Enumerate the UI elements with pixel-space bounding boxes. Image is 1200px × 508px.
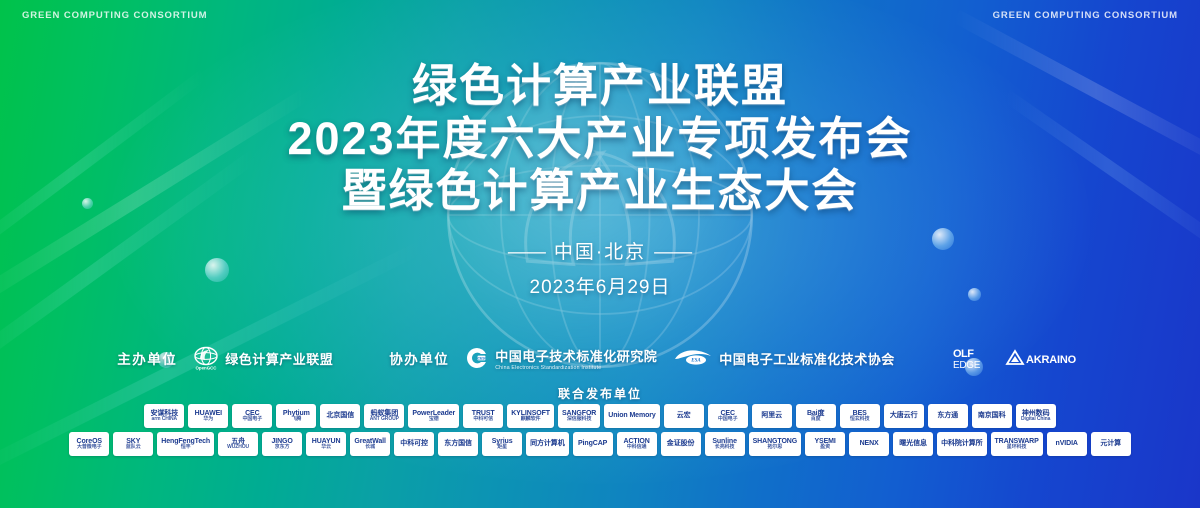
sponsor-logo-label: 神州数码Digital China — [1021, 410, 1050, 423]
sponsor-logo[interactable]: PowerLeader宝德 — [408, 404, 459, 428]
title-line-2: 2023年度六大产业专项发布会 — [0, 115, 1200, 163]
sponsor-logo[interactable]: BES恒玄科技 — [840, 404, 880, 428]
sponsor-logo-row-2: CoreOS大普微电子SKY蓝队云HengFengTech恒丰五舟WUZHOUJ… — [0, 432, 1200, 456]
host-organization: OpenGCC 绿色计算产业联盟 — [193, 345, 333, 371]
akraino-icon: AKRAINO — [1005, 348, 1083, 368]
title-line-1: 绿色计算产业联盟 — [0, 62, 1200, 110]
sponsor-logo[interactable]: 五舟WUZHOU — [218, 432, 258, 456]
cesi-c-icon: CESI — [465, 346, 489, 370]
sponsor-logo-label: 北京国信 — [327, 412, 355, 419]
sponsor-logo[interactable]: 阿里云 — [752, 404, 792, 428]
sponsor-logo-label: 金证股份 — [667, 440, 695, 447]
svg-text:ESA: ESA — [691, 359, 702, 364]
co-organization-name-cesa: 中国电子工业标准化技术协会 — [719, 349, 895, 368]
sponsor-logo-primary: 北京国信 — [327, 412, 355, 419]
sponsor-logo[interactable]: 金证股份 — [661, 432, 701, 456]
sponsor-logo[interactable]: Syrius炬星 — [482, 432, 522, 456]
sponsor-logo-secondary: 星环科技 — [1007, 445, 1027, 450]
corner-label-left: GREEN COMPUTING CONSORTIUM — [22, 10, 207, 21]
sponsor-logo[interactable]: 安谋科技arm CHINA — [144, 404, 184, 428]
svg-text:CESI: CESI — [478, 357, 486, 361]
sponsor-logo-label: SKY蓝队云 — [126, 438, 141, 451]
sponsor-logo-primary: 南京国科 — [978, 412, 1006, 419]
sponsor-logo-label: CEC中国电子 — [243, 410, 263, 423]
sponsor-logo-label: 大唐云行 — [890, 412, 918, 419]
sponsor-logo-primary: 元计算 — [1100, 440, 1121, 447]
sponsor-logo-label: 蚂蚁集团ANT GROUP — [370, 410, 399, 423]
co-organization-cesi: CESI 中国电子技术标准化研究院 China Electronics Stan… — [465, 346, 657, 371]
sponsor-logo[interactable]: NENX — [849, 432, 889, 456]
sponsor-logo-primary: NENX — [860, 440, 879, 447]
sponsor-logo-secondary: 大普微电子 — [77, 445, 102, 450]
sponsor-logo[interactable]: SANGFOR深信服科技 — [558, 404, 600, 428]
sponsor-logo-secondary: 中国电子 — [718, 417, 738, 422]
sponsor-logo-label: 南京国科 — [978, 412, 1006, 419]
sponsor-logo[interactable]: HUAWEI华为 — [188, 404, 228, 428]
sponsor-logo-secondary: WUZHOU — [227, 445, 249, 450]
opengcc-globe-icon: OpenGCC — [193, 345, 219, 371]
sponsor-logo-label: nVIDIA — [1056, 440, 1078, 447]
sponsor-logo-label: PingCAP — [578, 440, 607, 447]
sponsor-logo-label: JINGO京东方 — [271, 438, 292, 451]
sponsor-logo-secondary: 飞腾 — [291, 417, 301, 422]
sponsor-logo-label: Union Memory — [608, 412, 655, 419]
sponsor-logo-primary: 阿里云 — [761, 412, 782, 419]
sponsor-logo[interactable]: YSEMI盈资 — [805, 432, 845, 456]
sponsor-logo-label: 元计算 — [1100, 440, 1121, 447]
sponsor-logo-secondary: 麒麟软件 — [521, 417, 541, 422]
sponsor-logo-primary: Union Memory — [608, 412, 655, 419]
sponsor-logo[interactable]: Union Memory — [604, 404, 659, 428]
sponsor-logo-secondary: 华为 — [203, 417, 213, 422]
sponsor-logo-secondary: 百度 — [811, 417, 821, 422]
svg-text:AKRAINO: AKRAINO — [1026, 354, 1077, 366]
sponsor-logo-secondary: 中科信通 — [627, 445, 647, 450]
sponsor-logo[interactable]: 神州数码Digital China — [1016, 404, 1056, 428]
sponsor-logo-label: 五舟WUZHOU — [227, 438, 249, 451]
sponsor-logo-secondary: 中科可信 — [473, 417, 493, 422]
corner-label-right: GREEN COMPUTING CONSORTIUM — [993, 10, 1178, 21]
sponsor-logo[interactable]: 中科可控 — [394, 432, 434, 456]
sponsor-logo-label: HengFengTech恒丰 — [161, 438, 210, 451]
sponsor-logo[interactable]: SHANGTONG拓尔思 — [749, 432, 801, 456]
sponsor-logo-secondary: 深信服科技 — [567, 417, 592, 422]
title-line-3: 暨绿色计算产业生态大会 — [0, 167, 1200, 215]
sponsor-logo-label: 中科院计算所 — [941, 440, 982, 447]
sponsor-logo-secondary: 蓝队云 — [126, 445, 141, 450]
sponsor-logo[interactable]: 曙光信息 — [893, 432, 933, 456]
sponsor-logo-primary: 同方计算机 — [530, 440, 565, 447]
sponsor-logo-label: YSEMI盈资 — [814, 438, 835, 451]
sponsor-logo[interactable]: 同方计算机 — [526, 432, 569, 456]
sponsor-logo-secondary: 长城 — [365, 445, 375, 450]
sponsor-logo-secondary: 华云 — [321, 445, 331, 450]
sponsor-logo-primary: 东方国信 — [444, 440, 472, 447]
conference-banner: GREEN COMPUTING CONSORTIUM GREEN COMPUTI… — [0, 0, 1200, 508]
host-label: 主办单位 — [117, 348, 177, 368]
sponsor-logo[interactable]: TRUST中科可信 — [463, 404, 503, 428]
sponsor-logo-label: CEC中国电子 — [718, 410, 738, 423]
dash-right: —— — [654, 242, 692, 263]
co-organizer-label: 协办单位 — [389, 348, 449, 368]
sponsor-logo-label: 东方通 — [937, 412, 958, 419]
sponsor-logo[interactable]: HUAYUN华云 — [306, 432, 346, 456]
sponsor-logo-secondary: 恒玄科技 — [850, 417, 870, 422]
sponsor-logo-label: SANGFOR深信服科技 — [562, 410, 596, 423]
sponsor-logo[interactable]: SKY蓝队云 — [113, 432, 153, 456]
sponsor-logo-primary: 金证股份 — [667, 440, 695, 447]
sponsor-logo[interactable]: 东方通 — [928, 404, 968, 428]
sponsor-logo-label: SHANGTONG拓尔思 — [753, 438, 797, 451]
sponsor-logo[interactable]: Bai度百度 — [796, 404, 836, 428]
sponsor-logo-primary: 东方通 — [937, 412, 958, 419]
sponsor-logo-label: PowerLeader宝德 — [412, 410, 455, 423]
sponsor-logo-secondary: arm CHINA — [152, 417, 178, 422]
sponsor-logo-label: HUAYUN华云 — [312, 438, 341, 451]
sponsor-logo[interactable]: 东方国信 — [438, 432, 478, 456]
partner-akraino: AKRAINO — [1005, 348, 1083, 368]
sponsor-logo-primary: 大唐云行 — [890, 412, 918, 419]
sponsor-logo-label: Bai度百度 — [807, 410, 825, 423]
sponsor-logo[interactable]: 蚂蚁集团ANT GROUP — [364, 404, 404, 428]
sponsor-logo-label: Phytium飞腾 — [283, 410, 310, 423]
sponsor-logo-label: 中科可控 — [400, 440, 428, 447]
sponsor-logo-secondary: 盈资 — [820, 445, 830, 450]
sponsor-logo[interactable]: CoreOS大普微电子 — [69, 432, 109, 456]
cesi-name-en: China Electronics Standardization Instit… — [495, 365, 657, 371]
sponsor-logo[interactable]: TRANSWARP星环科技 — [991, 432, 1043, 456]
sponsor-logo-row-1: 安谋科技arm CHINAHUAWEI华为CEC中国电子Phytium飞腾北京国… — [0, 404, 1200, 428]
svg-text:EDGE: EDGE — [953, 360, 981, 371]
sponsor-logo[interactable]: CEC中国电子 — [232, 404, 272, 428]
sponsor-logo-rows: 安谋科技arm CHINAHUAWEI华为CEC中国电子Phytium飞腾北京国… — [0, 404, 1200, 460]
cesi-name-cn: 中国电子技术标准化研究院 — [495, 349, 657, 364]
sponsor-logo-label: 东方国信 — [444, 440, 472, 447]
sponsor-logo-label: Syrius炬星 — [492, 438, 513, 451]
sponsor-logo-secondary: 恒丰 — [181, 445, 191, 450]
sponsor-logo-label: 安谋科技arm CHINA — [151, 410, 179, 423]
sponsor-logo[interactable]: ACTION中科信通 — [617, 432, 657, 456]
location-text: 中国·北京 — [554, 242, 646, 263]
sponsor-logo[interactable]: CEC中国电子 — [708, 404, 748, 428]
sponsor-logo-secondary: 拓尔思 — [768, 445, 783, 450]
sponsor-logo-label: 阿里云 — [761, 412, 782, 419]
sponsor-logo[interactable]: 大唐云行 — [884, 404, 924, 428]
sponsor-logo-secondary: 炬星 — [497, 445, 507, 450]
sponsor-logo-secondary: 京东方 — [275, 445, 290, 450]
sponsor-logo[interactable]: 北京国信 — [320, 404, 360, 428]
sponsor-logo[interactable]: Sunline长亮科技 — [705, 432, 745, 456]
sponsor-logo-label: TRANSWARP星环科技 — [995, 438, 1039, 451]
sponsor-logo-label: HUAWEI华为 — [195, 410, 222, 423]
sponsor-logo-primary: 中科可控 — [400, 440, 428, 447]
sponsor-logo-primary: 曙光信息 — [899, 440, 927, 447]
sponsor-logo-primary: nVIDIA — [1056, 440, 1078, 447]
sponsor-logo-secondary: 中国电子 — [243, 417, 263, 422]
sponsor-logo-secondary: Digital China — [1021, 417, 1050, 422]
sponsor-logo-secondary: ANT GROUP — [370, 417, 399, 422]
lfedge-icon: OLF EDGE — [951, 345, 989, 371]
sponsor-logo[interactable]: nVIDIA — [1047, 432, 1087, 456]
sponsor-logo[interactable]: 元计算 — [1091, 432, 1131, 456]
location-line: ——中国·北京—— — [0, 237, 1200, 264]
sponsor-logo-label: CoreOS大普微电子 — [77, 438, 102, 451]
sponsor-logo-label: BES恒玄科技 — [850, 410, 870, 423]
sponsor-logo-label: GreatWall长城 — [354, 438, 386, 451]
dash-left: —— — [508, 242, 546, 263]
sponsor-logo-label: ACTION中科信通 — [623, 438, 649, 451]
co-organization-cesa: ESA 中国电子工业标准化技术协会 — [673, 348, 895, 368]
sponsor-logo-secondary: 长亮科技 — [715, 445, 735, 450]
sponsor-logo-label: NENX — [860, 440, 879, 447]
sponsor-logo-secondary: 宝德 — [429, 417, 439, 422]
sponsor-logo-primary: 中科院计算所 — [941, 440, 982, 447]
sponsor-logo-primary: PingCAP — [578, 440, 607, 447]
partner-lfedge: OLF EDGE — [951, 345, 989, 371]
sponsor-logo-primary: 云宏 — [677, 412, 691, 419]
co-organization-name-cesi: 中国电子技术标准化研究院 China Electronics Standardi… — [495, 346, 657, 371]
sponsor-logo[interactable]: PingCAP — [573, 432, 613, 456]
sponsor-logo-label: 同方计算机 — [530, 440, 565, 447]
date-line: 2023年6月29日 — [0, 272, 1200, 299]
sponsor-logo-label: Sunline长亮科技 — [712, 438, 737, 451]
organizer-row: 主办单位 OpenGCC 绿色计算产业联盟 协办单位 CESI 中国电子技术标准… — [0, 345, 1200, 371]
cesa-swoosh-icon: ESA — [673, 348, 713, 368]
sponsor-logo[interactable]: 云宏 — [664, 404, 704, 428]
sponsor-logo[interactable]: JINGO京东方 — [262, 432, 302, 456]
joint-release-label: 联合发布单位 — [0, 385, 1200, 402]
sponsor-logo-label: 云宏 — [677, 412, 691, 419]
sponsor-logo[interactable]: Phytium飞腾 — [276, 404, 316, 428]
sponsor-logo[interactable]: 南京国科 — [972, 404, 1012, 428]
svg-text:OLF: OLF — [953, 348, 974, 360]
svg-text:OpenGCC: OpenGCC — [196, 365, 218, 370]
sponsor-logo[interactable]: GreatWall长城 — [350, 432, 390, 456]
sponsor-logo[interactable]: 中科院计算所 — [937, 432, 986, 456]
sponsor-logo[interactable]: KYLINSOFT麒麟软件 — [507, 404, 554, 428]
sponsor-logo-label: KYLINSOFT麒麟软件 — [511, 410, 550, 423]
sponsor-logo-label: 曙光信息 — [899, 440, 927, 447]
title-block: 绿色计算产业联盟 2023年度六大产业专项发布会 暨绿色计算产业生态大会 ——中… — [0, 62, 1200, 299]
sponsor-logo[interactable]: HengFengTech恒丰 — [157, 432, 214, 456]
sponsor-logo-label: TRUST中科可信 — [472, 410, 495, 423]
host-name: 绿色计算产业联盟 — [225, 349, 333, 368]
